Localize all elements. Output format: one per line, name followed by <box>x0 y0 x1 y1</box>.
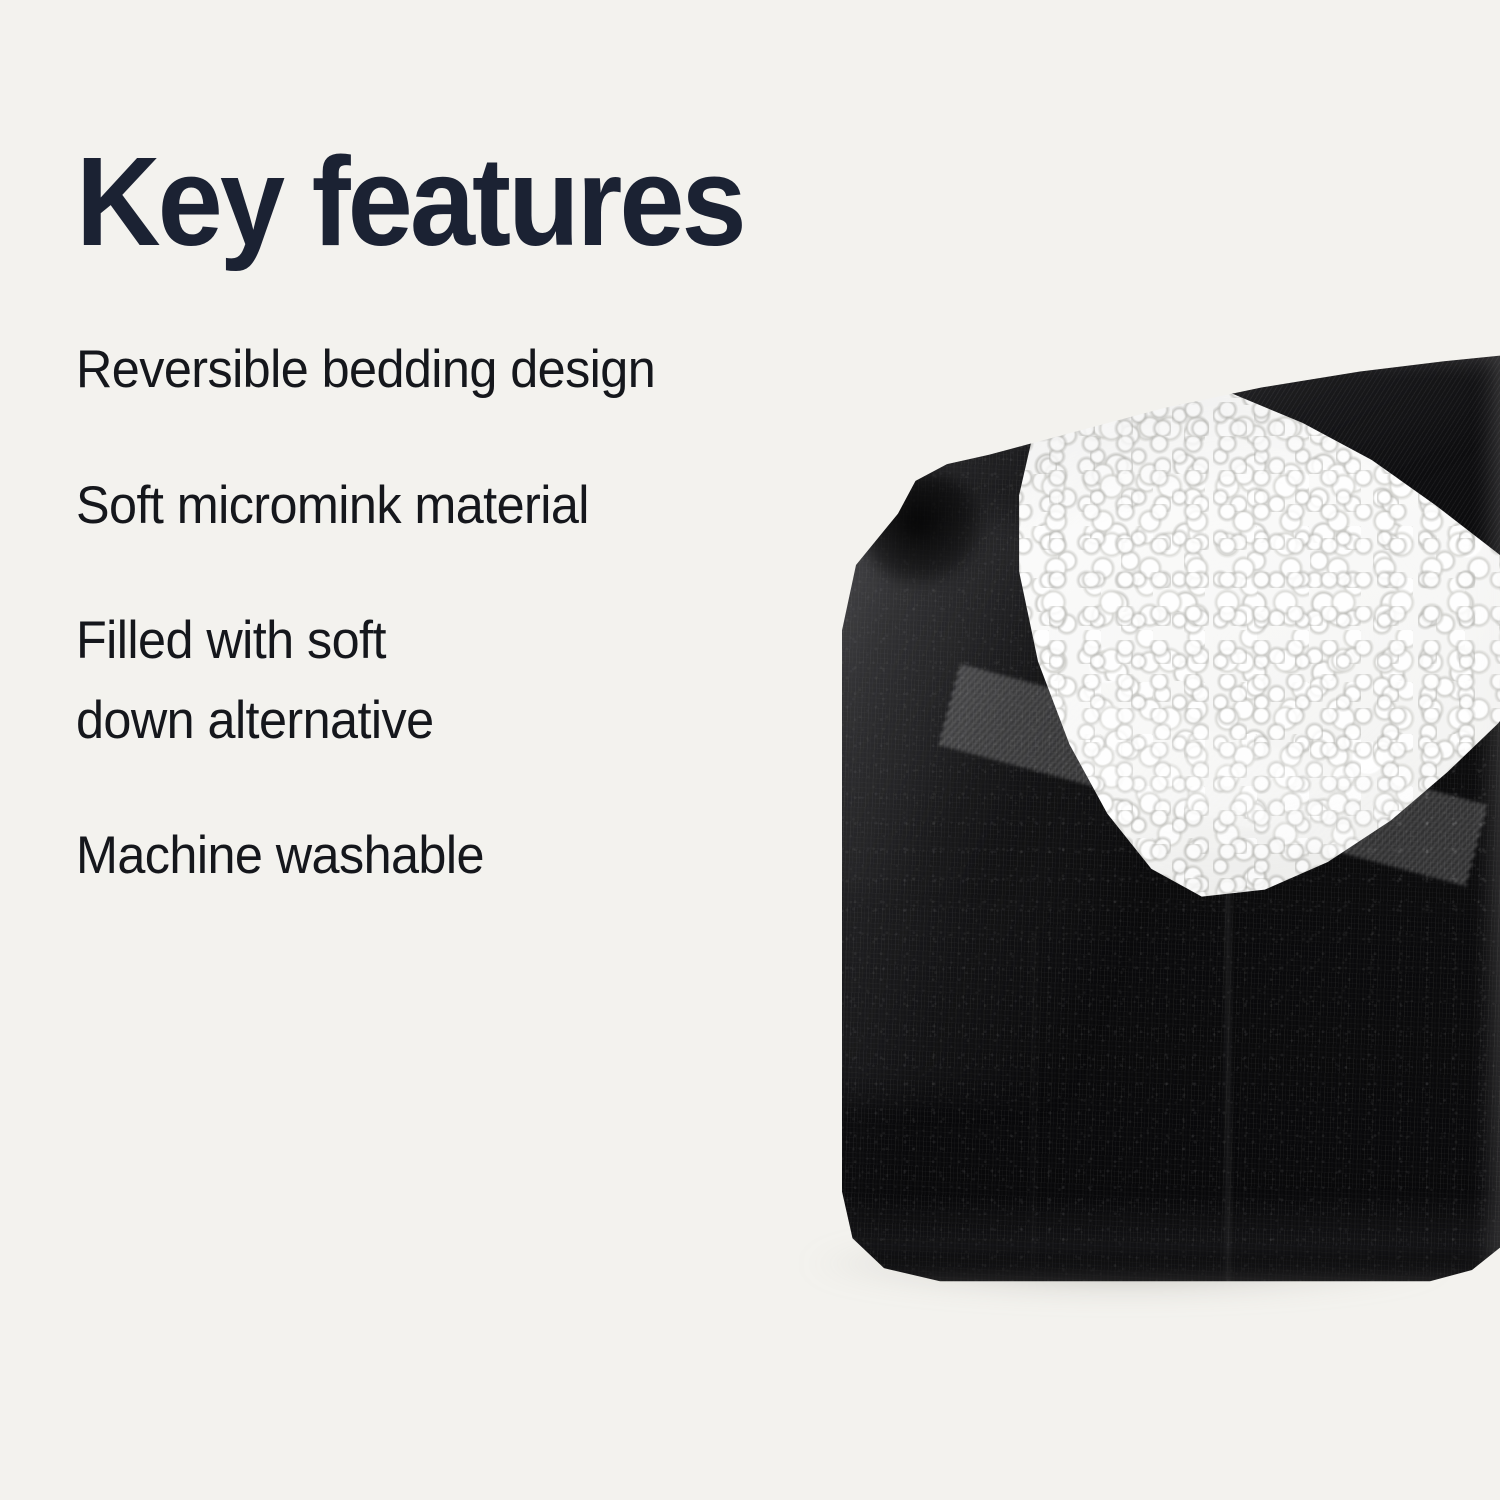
blanket-bottom-edge-shading <box>828 1192 1500 1286</box>
folded-blanket <box>800 350 1500 1285</box>
page-title: Key features <box>76 136 744 268</box>
features-list: Reversible bedding design Soft micromink… <box>76 330 836 896</box>
feature-item-reversible-design: Reversible bedding design <box>76 330 798 410</box>
text-column: Key features Reversible bedding design S… <box>76 0 836 1500</box>
feature-item-down-alternative-fill: Filled with soft down alternative <box>76 601 798 760</box>
feature-item-micromink-material: Soft micromink material <box>76 466 798 546</box>
key-features-infographic: Key features Reversible bedding design S… <box>0 0 1500 1500</box>
feature-item-machine-washable: Machine washable <box>76 816 798 896</box>
